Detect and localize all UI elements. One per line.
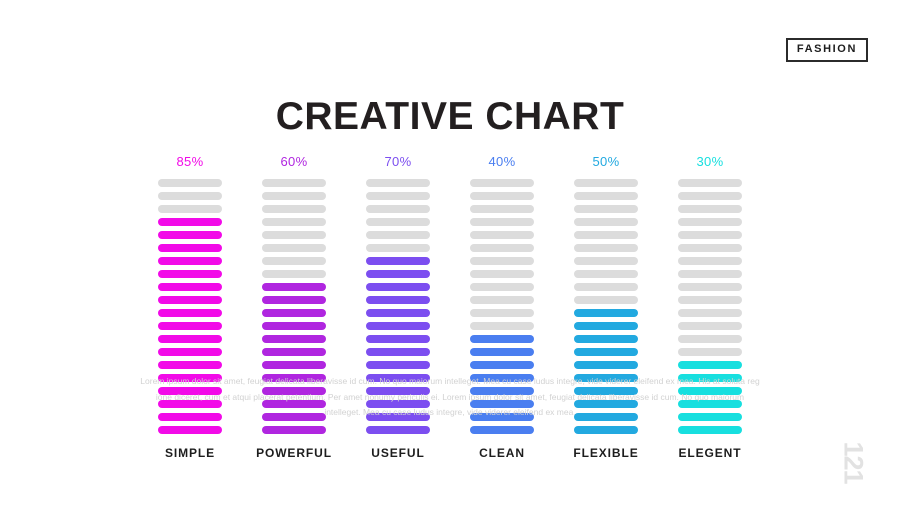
category-label: POWERFUL bbox=[256, 447, 332, 459]
bar-segment-empty bbox=[678, 335, 742, 343]
bar-segment-filled bbox=[470, 348, 534, 356]
bar-segment-filled bbox=[574, 309, 638, 317]
bar-segment-empty bbox=[470, 322, 534, 330]
bar-segment-empty bbox=[158, 192, 222, 200]
bar-segment-empty bbox=[262, 257, 326, 265]
bar-segment-empty bbox=[678, 309, 742, 317]
bar-segment-filled bbox=[158, 335, 222, 343]
bar-segment-empty bbox=[262, 270, 326, 278]
bar-segment-empty bbox=[366, 179, 430, 187]
caption-line-1: Lorem ipsum dolor sit amet, feugiat deli… bbox=[140, 376, 745, 386]
bar-segment-empty bbox=[158, 179, 222, 187]
value-label: 50% bbox=[593, 155, 620, 168]
bar-segment-filled bbox=[678, 361, 742, 369]
bar-segment-filled bbox=[366, 283, 430, 291]
bar-segment-empty bbox=[574, 192, 638, 200]
bar-segment-empty bbox=[678, 270, 742, 278]
bar-segment-empty bbox=[470, 283, 534, 291]
bar-segment-filled bbox=[574, 348, 638, 356]
bar-segment-empty bbox=[574, 244, 638, 252]
bar-segment-filled bbox=[574, 426, 638, 434]
bar-segment-filled bbox=[262, 283, 326, 291]
bar-segment-filled bbox=[158, 231, 222, 239]
bar-segment-filled bbox=[470, 361, 534, 369]
bar-segment-empty bbox=[678, 283, 742, 291]
category-label: SIMPLE bbox=[165, 447, 215, 459]
bar-segment-empty bbox=[574, 270, 638, 278]
bar-segment-filled bbox=[574, 335, 638, 343]
bar-segment-filled bbox=[158, 244, 222, 252]
bar-segment-empty bbox=[574, 283, 638, 291]
bar-segment-empty bbox=[678, 322, 742, 330]
slide-number-watermark: 121 bbox=[839, 441, 866, 483]
bar-segment-empty bbox=[470, 231, 534, 239]
caption-line-3: intelleget. Mea cu case ludus integre, v… bbox=[324, 407, 575, 417]
bar-segment-empty bbox=[470, 218, 534, 226]
bar-segment-filled bbox=[158, 283, 222, 291]
bar-segment-filled bbox=[158, 348, 222, 356]
bar-segment-empty bbox=[366, 218, 430, 226]
bar-segment-empty bbox=[574, 296, 638, 304]
bar-segment-filled bbox=[574, 322, 638, 330]
bar-segment-filled bbox=[366, 296, 430, 304]
bar-segment-empty bbox=[574, 179, 638, 187]
caption-paragraph: Lorem ipsum dolor sit amet, feugiat deli… bbox=[138, 374, 763, 421]
bar-segment-filled bbox=[158, 361, 222, 369]
bar-segment-empty bbox=[574, 218, 638, 226]
bar-segment-filled bbox=[470, 335, 534, 343]
bar-segment-filled bbox=[366, 322, 430, 330]
bar-segment-empty bbox=[158, 205, 222, 213]
bar-segment-filled bbox=[158, 309, 222, 317]
bar-segment-empty bbox=[470, 270, 534, 278]
bar-segment-filled bbox=[158, 426, 222, 434]
bar-segment-empty bbox=[262, 179, 326, 187]
bar-segment-filled bbox=[262, 335, 326, 343]
bar-segment-empty bbox=[366, 244, 430, 252]
bar-segment-empty bbox=[574, 205, 638, 213]
bar-segment-empty bbox=[262, 218, 326, 226]
bar-segment-empty bbox=[262, 192, 326, 200]
bar-segment-filled bbox=[158, 322, 222, 330]
category-label: USEFUL bbox=[371, 447, 424, 459]
value-label: 85% bbox=[177, 155, 204, 168]
bar-segment-empty bbox=[470, 179, 534, 187]
bar-segment-filled bbox=[262, 426, 326, 434]
slide-canvas: FASHION CREATIVE CHART 85%SIMPLE60%POWER… bbox=[0, 0, 900, 506]
bar-segment-filled bbox=[158, 296, 222, 304]
bar-segment-filled bbox=[366, 426, 430, 434]
bar-segment-empty bbox=[574, 257, 638, 265]
bar-segment-empty bbox=[366, 231, 430, 239]
fashion-tag: FASHION bbox=[786, 38, 868, 62]
bar-segment-filled bbox=[158, 270, 222, 278]
bar-segment-filled bbox=[366, 348, 430, 356]
value-label: 40% bbox=[489, 155, 516, 168]
bar-segment-empty bbox=[470, 192, 534, 200]
bar-segment-filled bbox=[574, 361, 638, 369]
bar-segment-empty bbox=[574, 231, 638, 239]
bar-segment-empty bbox=[678, 257, 742, 265]
bar-segment-empty bbox=[470, 205, 534, 213]
value-label: 70% bbox=[385, 155, 412, 168]
bar-segment-empty bbox=[678, 179, 742, 187]
bar-segment-empty bbox=[678, 296, 742, 304]
bar-segment-empty bbox=[366, 205, 430, 213]
value-label: 30% bbox=[697, 155, 724, 168]
bar-segment-filled bbox=[262, 348, 326, 356]
bar-segment-empty bbox=[678, 218, 742, 226]
bar-segment-empty bbox=[470, 309, 534, 317]
category-label: ELEGENT bbox=[679, 447, 742, 459]
bar-segment-filled bbox=[366, 270, 430, 278]
bar-segment-empty bbox=[678, 205, 742, 213]
bar-segment-filled bbox=[366, 309, 430, 317]
bar-segment-empty bbox=[262, 205, 326, 213]
bar-segment-empty bbox=[262, 244, 326, 252]
bar-segment-filled bbox=[366, 257, 430, 265]
bar-segment-filled bbox=[262, 361, 326, 369]
bar-segment-empty bbox=[470, 257, 534, 265]
bar-segment-filled bbox=[470, 426, 534, 434]
bar-segment-filled bbox=[366, 335, 430, 343]
bar-segment-filled bbox=[678, 426, 742, 434]
category-label: FLEXIBLE bbox=[573, 447, 638, 459]
bar-segment-empty bbox=[678, 348, 742, 356]
page-title: CREATIVE CHART bbox=[0, 96, 900, 139]
bar-segment-empty bbox=[678, 192, 742, 200]
bar-segment-filled bbox=[158, 218, 222, 226]
bar-segment-filled bbox=[158, 257, 222, 265]
bar-segment-empty bbox=[678, 231, 742, 239]
bar-segment-empty bbox=[366, 192, 430, 200]
bar-segment-filled bbox=[262, 309, 326, 317]
category-label: CLEAN bbox=[479, 447, 525, 459]
bar-segment-filled bbox=[366, 361, 430, 369]
bar-segment-empty bbox=[678, 244, 742, 252]
value-label: 60% bbox=[281, 155, 308, 168]
bar-segment-empty bbox=[470, 244, 534, 252]
bar-segment-empty bbox=[470, 296, 534, 304]
bar-segment-filled bbox=[262, 296, 326, 304]
bar-segment-filled bbox=[262, 322, 326, 330]
bar-segment-empty bbox=[262, 231, 326, 239]
